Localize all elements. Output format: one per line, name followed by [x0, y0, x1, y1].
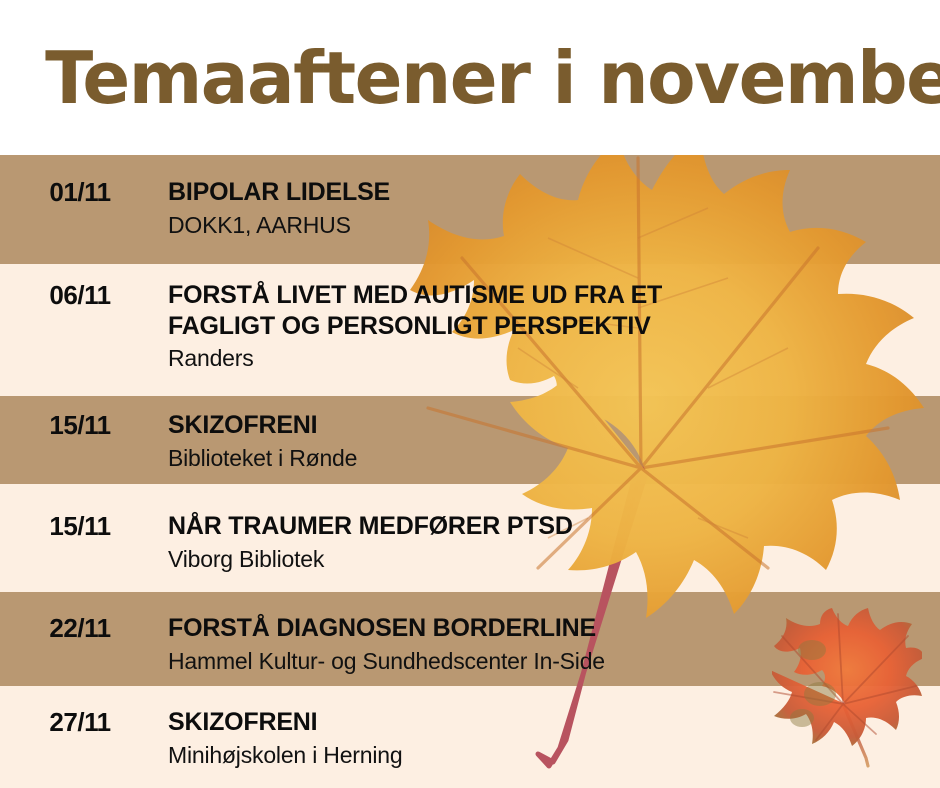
stripe-row-4 [0, 484, 940, 592]
stripe-row-5 [0, 592, 940, 686]
stripe-row-2 [0, 264, 940, 396]
poster-root: Temaaftener i november 01/11 BIPOLAR LID… [0, 0, 940, 788]
title-bar: Temaaftener i november [0, 0, 940, 155]
stripe-row-6 [0, 686, 940, 788]
stripe-row-1 [0, 155, 940, 264]
stripe-row-3 [0, 396, 940, 484]
stripe-background-layer [0, 155, 940, 788]
page-title: Temaaftener i november [0, 42, 940, 114]
